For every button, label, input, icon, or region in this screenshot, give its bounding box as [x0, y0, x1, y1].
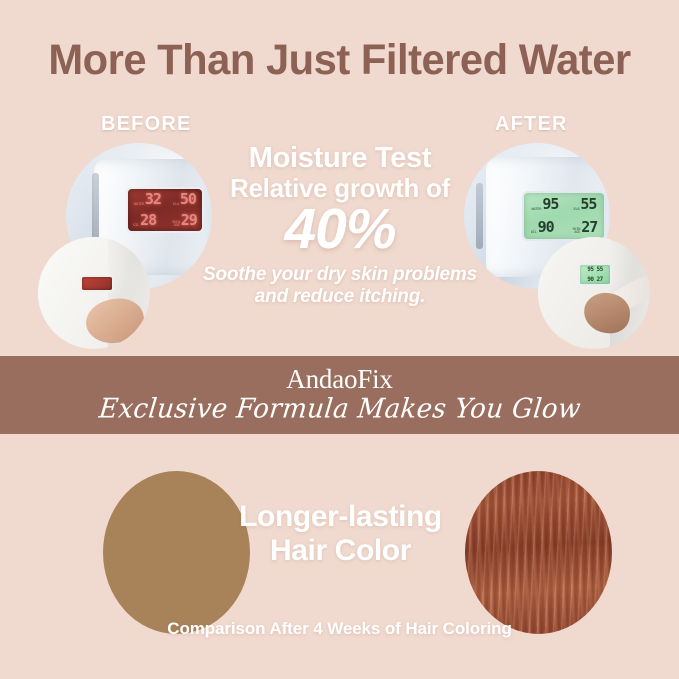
lcd-value-water: 95 [542, 197, 558, 212]
lcd-cell-oil: OIL 28 [133, 213, 156, 228]
lcd-cell-ela: ELA 55 [573, 197, 596, 212]
before-application-photo [38, 237, 150, 349]
moisture-tagline-line2: and reduce itching. [180, 286, 500, 308]
lcd-value-skin-age: 27 [581, 220, 597, 235]
lcd-tag-ela: ELA [173, 203, 179, 207]
brand-tagline: Exclusive Formula Makes You Glow [97, 396, 582, 424]
after-lcd-screen: WATER 95 ELA 55 OIL 90 SKIN AGE 27 [524, 193, 604, 239]
after-label: AFTER [495, 113, 568, 136]
moisture-tagline: Soothe your dry skin problems and reduce… [180, 264, 500, 308]
lcd-cell-water: WATER 95 [532, 197, 559, 212]
hair-section-caption: Comparison After 4 Weeks of Hair Colorin… [0, 619, 679, 639]
lcd-tag-skin-age: SKIN AGE [567, 228, 580, 235]
lcd-tag-water: WATER [532, 208, 542, 212]
moisture-test-title: Moisture Test [180, 143, 500, 174]
lcd-cell-oil: OIL 90 [531, 220, 554, 235]
lcd-row-top: WATER 95 ELA 55 [524, 193, 604, 216]
lcd-cell-water: WATER 32 [134, 192, 161, 207]
page-title: More Than Just Filtered Water [10, 36, 669, 85]
before-mini-screen [82, 277, 112, 290]
lcd-tag-oil: OIL [133, 224, 139, 228]
moisture-test-copy: Moisture Test Relative growth of 40% Soo… [180, 143, 500, 308]
hair-heading-line1: Longer-lasting [228, 500, 453, 534]
lcd-tag-skin-age: SKIN AGE [167, 221, 180, 228]
lcd-value-oil: 90 [538, 220, 554, 235]
product-infographic: More Than Just Filtered Water BEFORE AFT… [0, 0, 679, 679]
lcd-value-ela: 55 [580, 197, 596, 212]
hair-heading-line2: Hair Color [228, 534, 453, 568]
lcd-tag-oil: OIL [531, 231, 537, 235]
mini-screen-line-1: 95 55 [580, 265, 610, 275]
brand-name: AndaoFix [286, 366, 392, 393]
mini-screen-line-2: 90 27 [580, 275, 610, 285]
after-mini-screen: 95 55 90 27 [580, 265, 610, 284]
lcd-value-oil: 28 [140, 213, 156, 228]
lcd-row-bottom: OIL 90 SKIN AGE 27 [524, 216, 604, 239]
brand-banner: AndaoFix Exclusive Formula Makes You Glo… [0, 356, 679, 434]
after-application-photo: 95 55 90 27 [538, 237, 650, 349]
hair-swatch-after [465, 471, 612, 634]
device-seam [92, 173, 99, 245]
moisture-growth-percentage: 40% [180, 200, 500, 260]
lcd-tag-water: WATER [134, 203, 144, 207]
hair-section-heading: Longer-lasting Hair Color [228, 500, 453, 568]
lcd-value-water: 32 [145, 192, 161, 207]
lcd-cell-skin-age: SKIN AGE 27 [567, 220, 597, 235]
lcd-tag-ela: ELA [573, 208, 579, 212]
moisture-tagline-line1: Soothe your dry skin problems [180, 264, 500, 286]
before-label: BEFORE [101, 113, 192, 136]
